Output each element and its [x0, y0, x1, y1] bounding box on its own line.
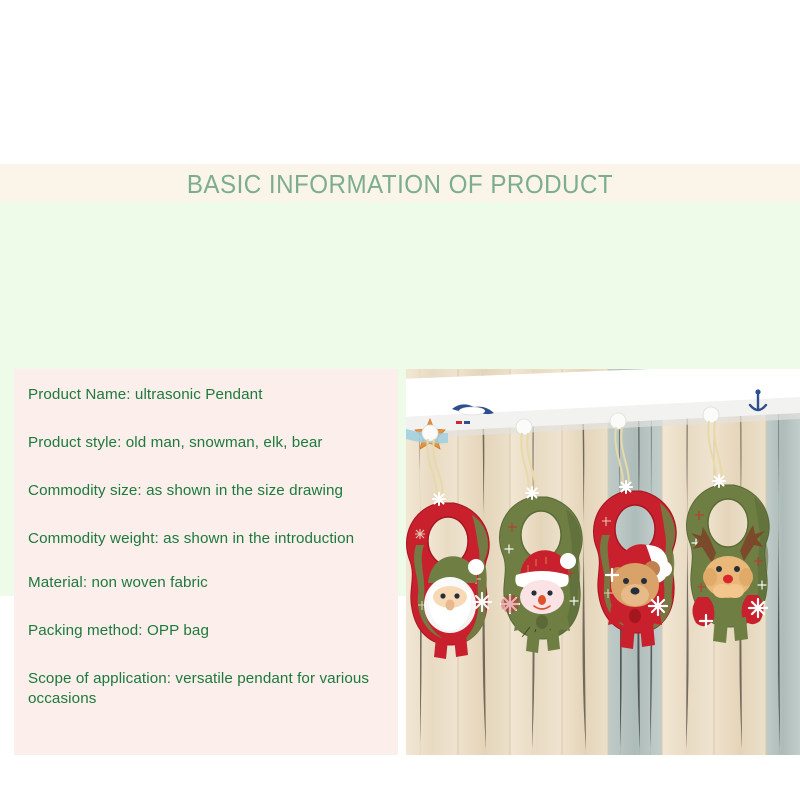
snowflake-icon — [526, 487, 538, 499]
spec-line-material: Material: non woven fabric — [28, 573, 398, 593]
snowflake-icon — [433, 493, 445, 505]
snowflake-icon — [713, 475, 725, 487]
ornament-elk — [687, 475, 770, 643]
spec-line-packing-method: Packing method: OPP bag — [28, 621, 398, 641]
snowflake-icon — [620, 481, 632, 493]
product-photo-illustration — [406, 369, 800, 755]
spec-line-product-style: Product style: old man, snowman, elk, be… — [28, 433, 398, 453]
spec-panel: Product Name: ultrasonic Pendant Product… — [14, 369, 398, 755]
spec-line-product-name: Product Name: ultrasonic Pendant — [28, 385, 398, 405]
spec-line-commodity-weight: Commodity weight: as shown in the introd… — [28, 529, 398, 549]
product-info-banner: BASIC INFORMATION OF PRODUCT Product Nam… — [0, 164, 800, 596]
spec-line-commodity-size: Commodity size: as shown in the size dra… — [28, 481, 398, 501]
spec-line-scope-of-application: Scope of application: versatile pendant … — [28, 669, 398, 709]
product-photo — [406, 369, 800, 755]
page-title: BASIC INFORMATION OF PRODUCT — [28, 167, 772, 201]
